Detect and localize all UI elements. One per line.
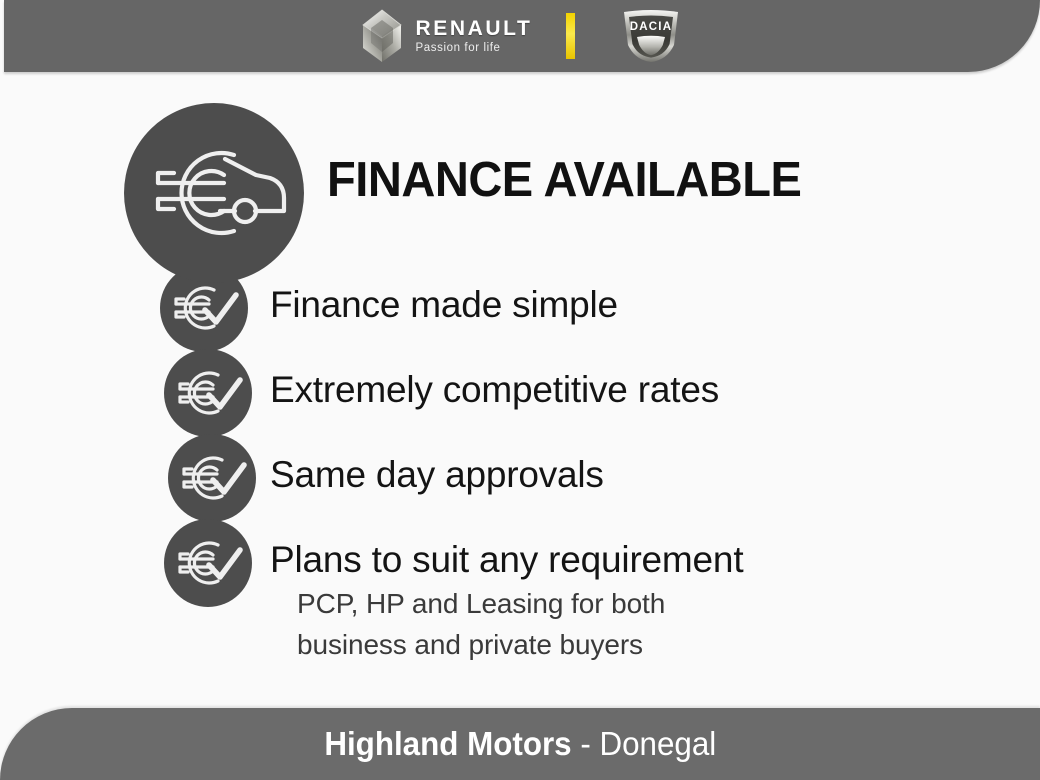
euro-check-icon xyxy=(164,519,252,607)
dealer-footer-bar: Highland Motors - Donegal xyxy=(0,708,1040,780)
euro-car-finance-icon xyxy=(124,103,304,283)
list-item-label: Extremely competitive rates xyxy=(270,369,719,411)
list-item-sublabel-line: business and private buyers xyxy=(297,625,665,666)
list-item: Extremely competitive rates xyxy=(0,349,1040,441)
dealer-location: Donegal xyxy=(599,725,716,762)
list-item-sublabel-line: PCP, HP and Leasing for both xyxy=(297,584,665,625)
finance-available-poster: RENAULT Passion for life xyxy=(0,0,1040,780)
list-item: Plans to suit any requirement PCP, HP an… xyxy=(0,519,1040,669)
list-item-sublabel: PCP, HP and Leasing for both business an… xyxy=(297,584,665,666)
list-item: Same day approvals xyxy=(0,434,1040,526)
euro-check-icon xyxy=(164,349,252,437)
euro-check-icon xyxy=(168,434,256,522)
dealer-footer-text: Highland Motors - Donegal xyxy=(324,725,716,763)
list-item-label: Same day approvals xyxy=(270,454,604,496)
dealer-name: Highland Motors xyxy=(324,725,571,762)
list-item-label: Plans to suit any requirement xyxy=(270,539,743,581)
list-item-label: Finance made simple xyxy=(270,284,618,326)
dealer-separator: - xyxy=(571,725,599,762)
